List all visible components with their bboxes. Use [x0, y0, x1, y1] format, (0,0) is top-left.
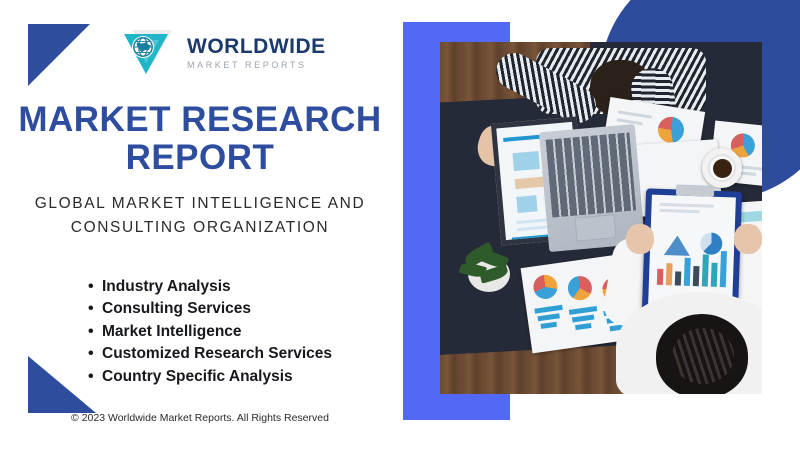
list-item: Customized Research Services: [88, 343, 332, 365]
list-item: Industry Analysis: [88, 276, 332, 298]
globe-triangle-logo-icon: [118, 26, 178, 80]
clipboard-report-sheet: [648, 195, 736, 308]
brand-logo: WORLDWIDE MARKET REPORTS: [118, 26, 326, 80]
person-white-shirt-hair: [672, 328, 734, 384]
office-photo: [440, 42, 762, 394]
bottom-left-triangle-decoration: [28, 356, 96, 413]
logo-brand-name: WORLDWIDE: [187, 36, 326, 57]
poster-canvas: WORLDWIDE MARKET REPORTS MARKET RESEARCH…: [0, 0, 800, 450]
list-item: Consulting Services: [88, 298, 332, 320]
person-white-shirt-left-hand: [626, 224, 654, 254]
logo-tagline: MARKET REPORTS: [187, 61, 326, 70]
list-item: Country Specific Analysis: [88, 366, 332, 388]
person-white-shirt-right-hand: [734, 224, 762, 254]
list-item: Market Intelligence: [88, 321, 332, 343]
services-list: Industry Analysis Consulting Services Ma…: [88, 276, 332, 388]
page-subtitle: GLOBAL MARKET INTELLIGENCE AND CONSULTIN…: [20, 192, 380, 240]
top-left-triangle-decoration: [28, 24, 90, 86]
page-title: MARKET RESEARCH REPORT: [0, 101, 400, 177]
artwork-panel: [395, 0, 800, 450]
copyright-footer: © 2023 Worldwide Market Reports. All Rig…: [0, 412, 400, 424]
coffee-liquid: [713, 159, 732, 178]
